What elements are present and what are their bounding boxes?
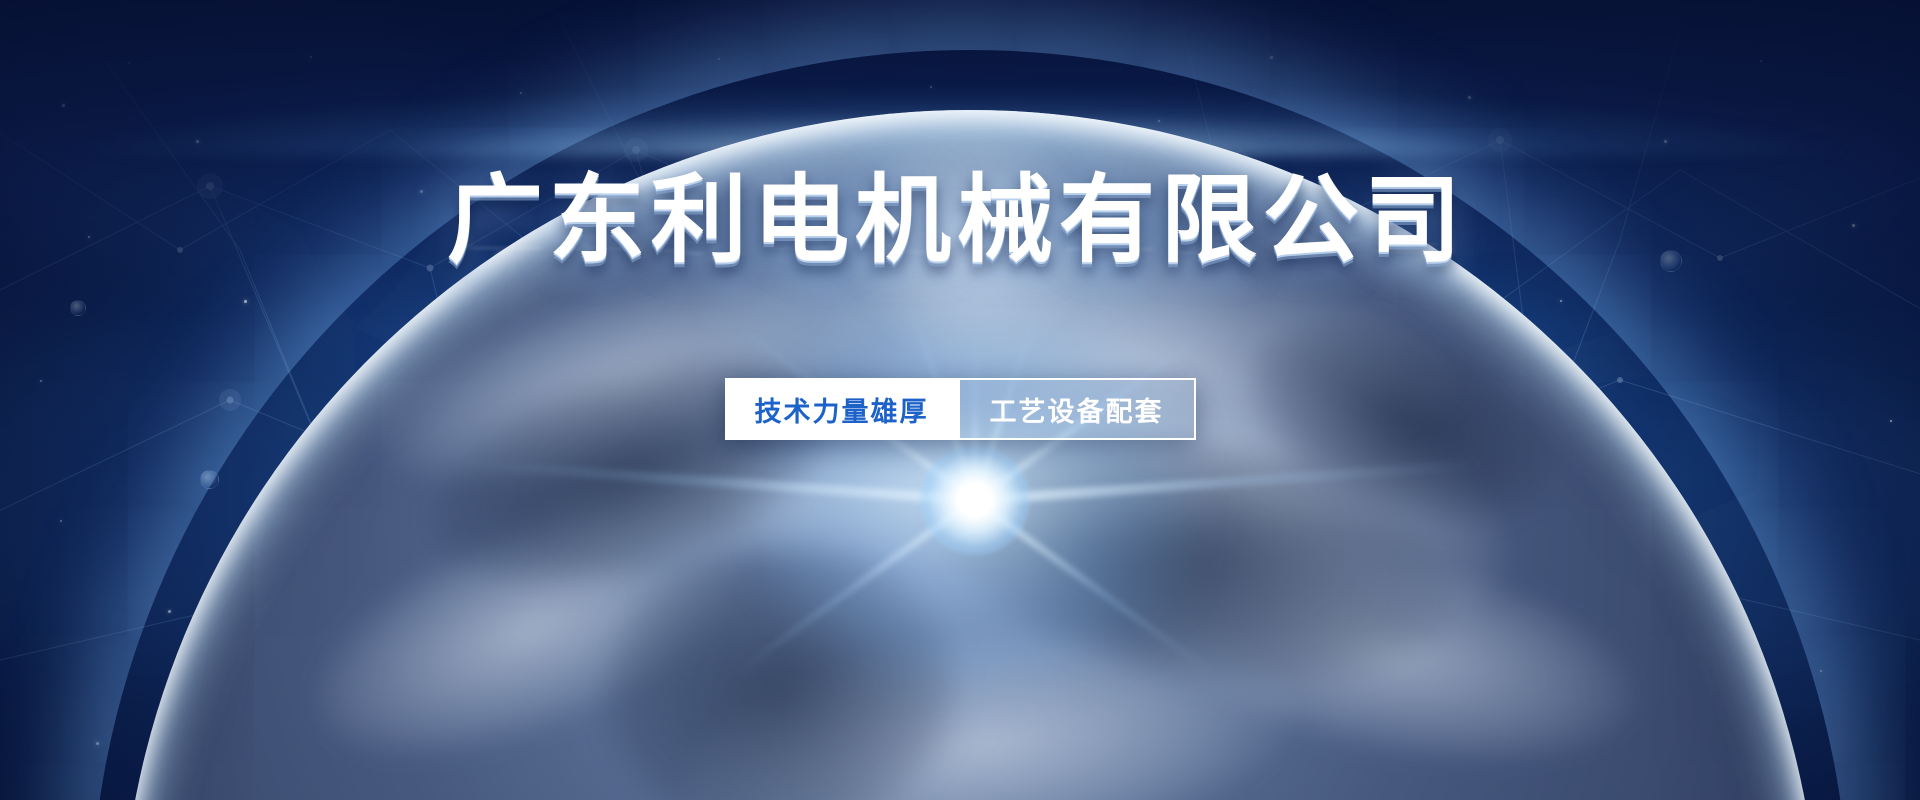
company-title-row: 广东利电机械有限公司 [0,170,1920,271]
banner-content: 广东利电机械有限公司 广东利电机械有限公司 技术力量雄厚 工艺设备配套 [0,0,1920,800]
hero-banner: 广东利电机械有限公司 广东利电机械有限公司 技术力量雄厚 工艺设备配套 [0,0,1920,800]
tagline-group: 技术力量雄厚 工艺设备配套 [725,378,1196,440]
tagline-row: 技术力量雄厚 工艺设备配套 [0,378,1920,440]
tagline-item-technical-strength: 技术力量雄厚 [725,378,959,440]
tagline-item-process-equipment: 工艺设备配套 [958,378,1196,440]
company-title: 广东利电机械有限公司 [447,170,1473,271]
